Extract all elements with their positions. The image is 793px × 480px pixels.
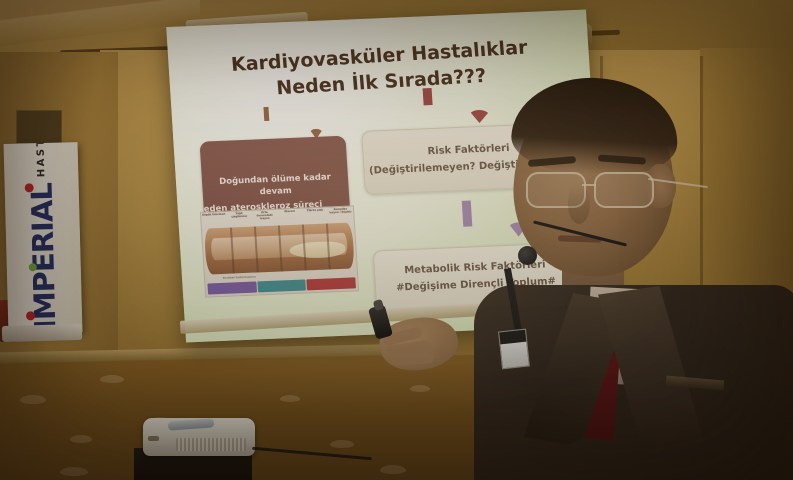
banner-logo: IMPERIAL HASTANESİ (10, 142, 75, 331)
slide-box-left-line1: Doğundan ölüme kadar devam (202, 171, 349, 201)
stage-label: Fibröz plak (302, 208, 328, 224)
wall-panel-dark (16, 110, 62, 144)
atherosclerosis-caption: Endotel disfonksiyonu (223, 275, 256, 280)
eyeglass-bridge (582, 184, 596, 186)
timeline-bar (257, 279, 306, 292)
timeline-bar (207, 282, 256, 295)
imperial-hospital-banner: IMPERIAL HASTANESİ (4, 142, 83, 334)
timeline-bar (307, 277, 356, 290)
stage-label: Aterom (277, 210, 303, 226)
eyeglasses (526, 172, 678, 206)
projector-power-button[interactable] (148, 436, 159, 441)
banner-subtitle-text: HASTANESİ (34, 142, 47, 177)
banner-brand-text: IMPERIAL (27, 183, 60, 330)
presenter (470, 60, 793, 480)
nose (568, 186, 590, 224)
atherosclerosis-diagram: Köpük hücreleri Yağlı çizgilenme Orta de… (200, 205, 359, 297)
presentation-room-photo: IMPERIAL HASTANESİ Kardiyovasküler Hasta… (0, 0, 793, 480)
stage-label: Orta derecedeki lezyon (252, 211, 278, 227)
arrow-to-right-box (423, 88, 433, 105)
headset-microphone-capsule (518, 246, 537, 265)
name-badge (498, 329, 530, 370)
projector-vent (176, 438, 246, 451)
banner-foot (2, 324, 82, 342)
stage-label: Köpük hücreleri (201, 213, 227, 229)
eyeglass-temple (648, 178, 708, 188)
eyeglass-lens (594, 172, 654, 208)
stage-label: Yağlı çizgilenme (226, 212, 252, 228)
arrow-to-left-box (263, 107, 269, 121)
atherosclerosis-timeline-bars (207, 277, 356, 294)
stage-label: Komplike lezyon / Rüptür (328, 207, 354, 223)
